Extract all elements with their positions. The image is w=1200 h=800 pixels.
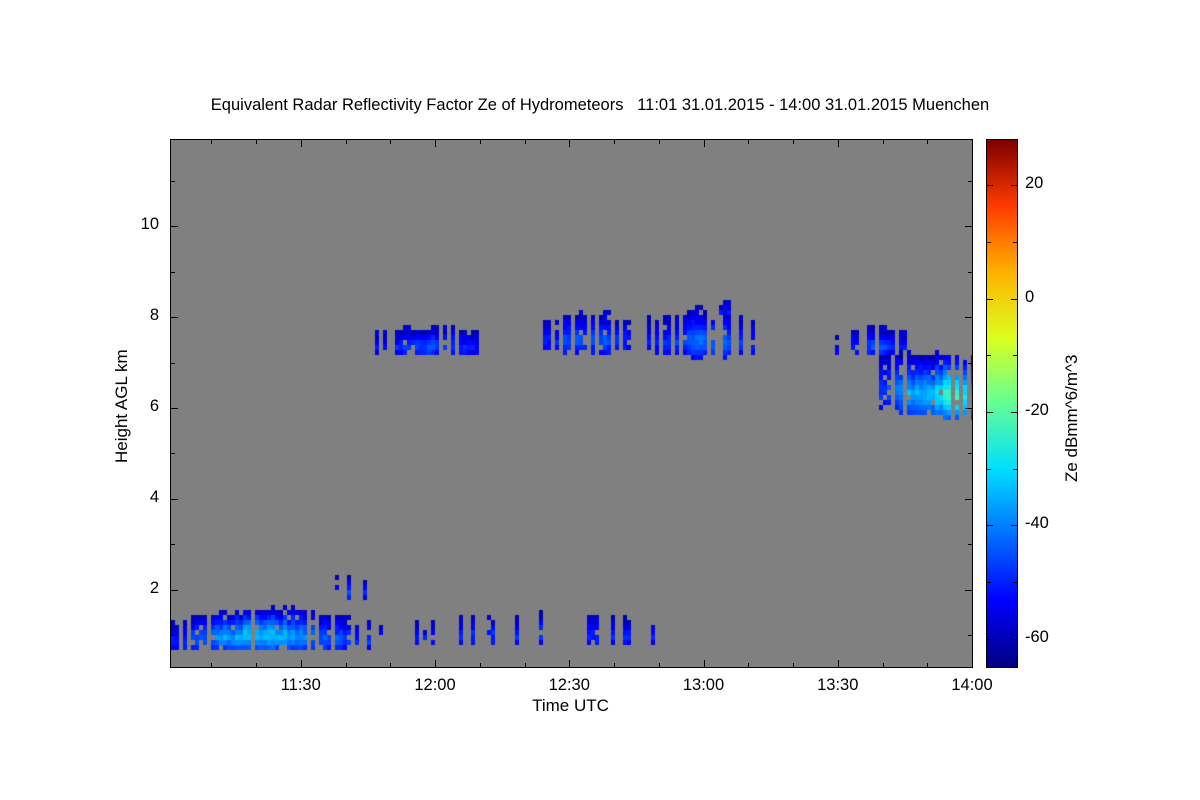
x-tick-label: 12:30 bbox=[519, 676, 619, 695]
y-tick-minor bbox=[171, 453, 175, 454]
reflectivity-heatmap bbox=[171, 140, 972, 667]
x-tick-major-top bbox=[838, 140, 839, 147]
x-tick-minor bbox=[390, 663, 391, 667]
x-tick-major-top bbox=[435, 140, 436, 147]
x-tick-minor bbox=[883, 663, 884, 667]
x-tick-major bbox=[704, 660, 705, 667]
x-tick-major bbox=[569, 660, 570, 667]
x-tick-minor-top bbox=[390, 140, 391, 144]
x-tick-major-top bbox=[569, 140, 570, 147]
y-tick-minor-right bbox=[968, 363, 972, 364]
colorbar-tick-major-right bbox=[1011, 185, 1017, 186]
y-tick-minor bbox=[171, 635, 175, 636]
y-tick-major bbox=[171, 408, 178, 409]
x-tick-major bbox=[972, 660, 973, 667]
colorbar-tick-major bbox=[987, 185, 993, 186]
colorbar-tick-label: -20 bbox=[1025, 401, 1049, 420]
colorbar-tick-major-right bbox=[1011, 412, 1017, 413]
y-tick-minor-right bbox=[968, 272, 972, 273]
x-tick-label: 13:00 bbox=[654, 676, 754, 695]
y-tick-major-right bbox=[965, 408, 972, 409]
page-title: Equivalent Radar Reflectivity Factor Ze … bbox=[0, 96, 1200, 115]
y-tick-major bbox=[171, 226, 178, 227]
y-tick-major-right bbox=[965, 499, 972, 500]
x-tick-minor bbox=[748, 663, 749, 667]
colorbar-tick-minor-right bbox=[1013, 355, 1017, 356]
y-tick-minor bbox=[171, 544, 175, 545]
x-tick-minor bbox=[659, 663, 660, 667]
x-tick-label: 11:30 bbox=[251, 676, 351, 695]
y-tick-major bbox=[171, 499, 178, 500]
x-tick-minor-top bbox=[614, 140, 615, 144]
x-tick-minor bbox=[256, 663, 257, 667]
radar-reflectivity-figure: Equivalent Radar Reflectivity Factor Ze … bbox=[0, 0, 1200, 800]
x-tick-minor-top bbox=[748, 140, 749, 144]
x-tick-major-top bbox=[972, 140, 973, 147]
colorbar-label: Ze dBmm^6/m^3 bbox=[1062, 355, 1082, 482]
x-tick-label: 14:00 bbox=[922, 676, 1022, 695]
y-axis-label: Height AGL km bbox=[112, 349, 132, 463]
y-tick-minor bbox=[171, 363, 175, 364]
x-tick-major bbox=[838, 660, 839, 667]
colorbar-tick-minor-right bbox=[1013, 469, 1017, 470]
colorbar-tick-major bbox=[987, 639, 993, 640]
y-tick-major-right bbox=[965, 317, 972, 318]
colorbar-tick-label: -60 bbox=[1025, 628, 1049, 647]
y-tick-minor bbox=[171, 181, 175, 182]
y-tick-major-right bbox=[965, 590, 972, 591]
x-tick-minor bbox=[793, 663, 794, 667]
x-tick-minor bbox=[211, 663, 212, 667]
x-tick-minor-top bbox=[211, 140, 212, 144]
colorbar-tick-major-right bbox=[1011, 525, 1017, 526]
x-tick-minor-top bbox=[927, 140, 928, 144]
colorbar-tick-major bbox=[987, 299, 993, 300]
y-tick-major-right bbox=[965, 226, 972, 227]
y-tick-minor-right bbox=[968, 453, 972, 454]
x-tick-major-top bbox=[704, 140, 705, 147]
colorbar-tick-minor bbox=[987, 582, 991, 583]
colorbar-tick-minor-right bbox=[1013, 242, 1017, 243]
y-tick-minor bbox=[171, 272, 175, 273]
x-tick-minor bbox=[614, 663, 615, 667]
x-tick-minor-top bbox=[883, 140, 884, 144]
x-tick-major-top bbox=[301, 140, 302, 147]
y-tick-minor-right bbox=[968, 181, 972, 182]
x-tick-label: 13:30 bbox=[788, 676, 888, 695]
y-tick-major bbox=[171, 317, 178, 318]
colorbar-tick-major-right bbox=[1011, 299, 1017, 300]
x-tick-minor bbox=[346, 663, 347, 667]
x-axis-label: Time UTC bbox=[170, 696, 971, 716]
colorbar-tick-minor-right bbox=[1013, 582, 1017, 583]
plot-area bbox=[170, 139, 973, 668]
x-tick-minor bbox=[927, 663, 928, 667]
colorbar-tick-minor bbox=[987, 469, 991, 470]
x-tick-minor bbox=[480, 663, 481, 667]
colorbar-tick-minor bbox=[987, 355, 991, 356]
x-tick-major bbox=[435, 660, 436, 667]
y-tick-label: 10 bbox=[79, 215, 159, 234]
colorbar bbox=[986, 139, 1018, 668]
colorbar-tick-major bbox=[987, 525, 993, 526]
colorbar-tick-label: 20 bbox=[1025, 174, 1043, 193]
y-tick-label: 2 bbox=[79, 579, 159, 598]
y-tick-minor-right bbox=[968, 544, 972, 545]
x-tick-minor-top bbox=[346, 140, 347, 144]
colorbar-tick-major bbox=[987, 412, 993, 413]
x-tick-minor bbox=[525, 663, 526, 667]
y-tick-label: 4 bbox=[79, 488, 159, 507]
y-tick-minor-right bbox=[968, 635, 972, 636]
y-tick-label: 8 bbox=[79, 306, 159, 325]
y-tick-major bbox=[171, 590, 178, 591]
x-tick-minor-top bbox=[480, 140, 481, 144]
x-tick-minor-top bbox=[659, 140, 660, 144]
x-tick-major bbox=[301, 660, 302, 667]
colorbar-tick-label: 0 bbox=[1025, 288, 1034, 307]
colorbar-gradient bbox=[987, 140, 1017, 667]
colorbar-tick-major-right bbox=[1011, 639, 1017, 640]
x-tick-minor-top bbox=[256, 140, 257, 144]
x-tick-minor-top bbox=[525, 140, 526, 144]
x-tick-label: 12:00 bbox=[385, 676, 485, 695]
colorbar-tick-minor bbox=[987, 242, 991, 243]
colorbar-tick-label: -40 bbox=[1025, 514, 1049, 533]
x-tick-minor-top bbox=[793, 140, 794, 144]
